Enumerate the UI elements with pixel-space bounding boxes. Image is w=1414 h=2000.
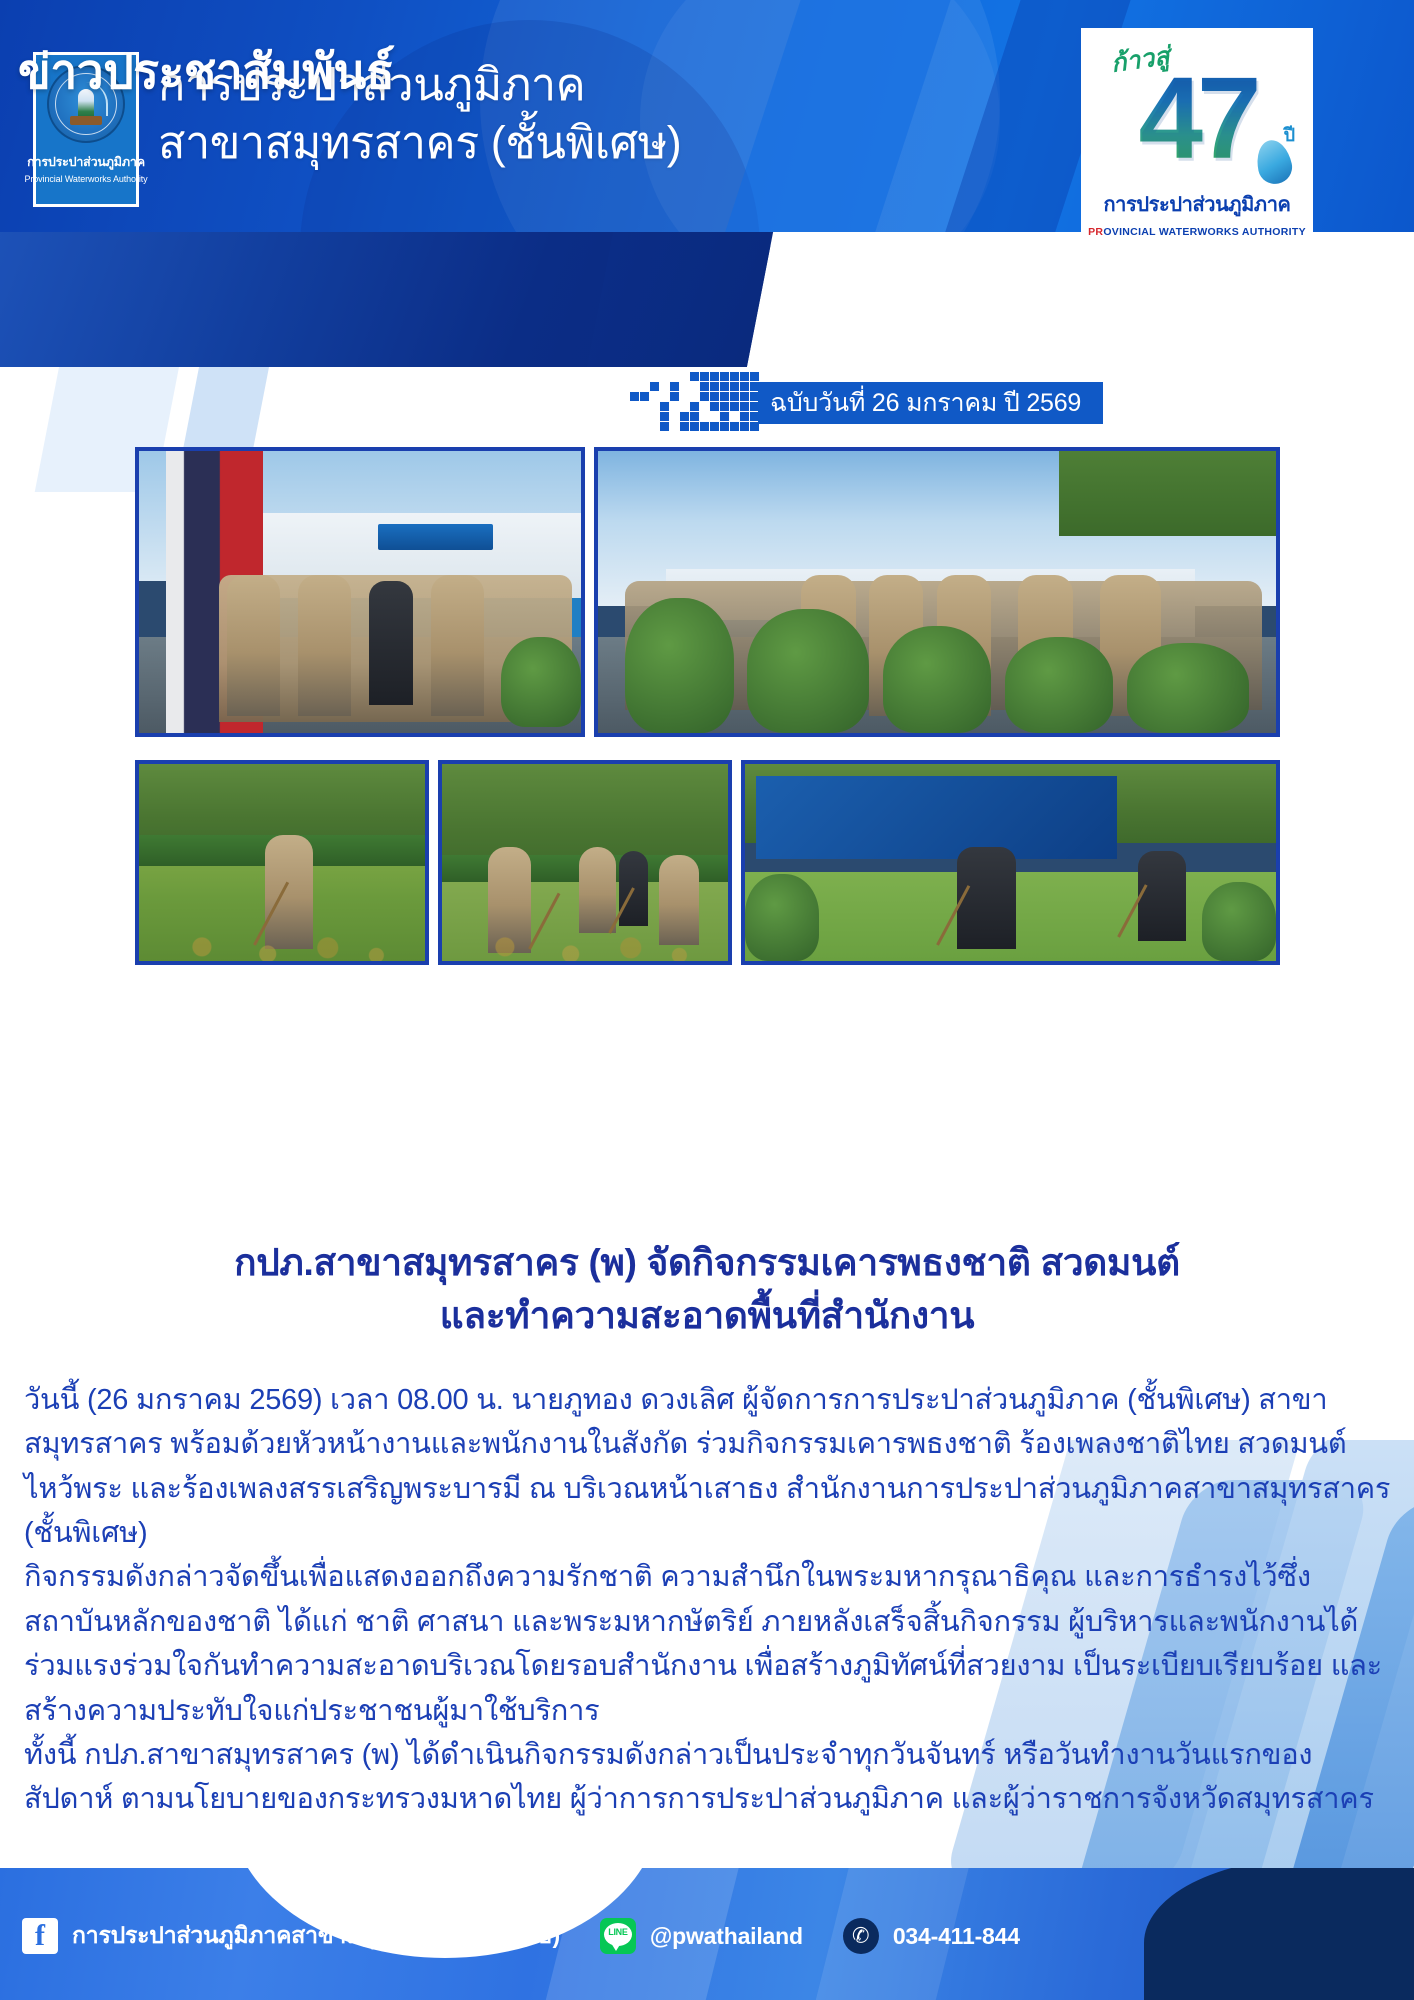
pixel-cell xyxy=(750,372,759,381)
pixel-cell xyxy=(710,372,719,381)
pixel-cell xyxy=(720,372,729,381)
photo-staff-praying-outside[interactable] xyxy=(594,447,1280,737)
pixel-cell xyxy=(730,372,739,381)
photo-flag-ceremony-front-office[interactable] xyxy=(135,447,585,737)
article-paragraph-2: กิจกรรมดังกล่าวจัดขึ้นเพื่อแสดงออกถึงควา… xyxy=(24,1555,1392,1732)
photo5-person-2 xyxy=(1138,851,1186,942)
pixel-cell xyxy=(660,422,669,431)
pixel-cell xyxy=(730,402,739,411)
pixel-cell xyxy=(670,392,679,401)
pixel-cell xyxy=(740,382,749,391)
footer-decor-dark xyxy=(1144,1868,1414,2000)
pixel-cell xyxy=(660,412,669,421)
pixel-cell xyxy=(720,382,729,391)
photo-staff-sweeping-leaves[interactable] xyxy=(438,760,732,965)
pixel-cell xyxy=(720,412,729,421)
photo2-bush-2 xyxy=(747,609,869,733)
pixel-cell xyxy=(680,422,689,431)
date-text: ฉบับวันที่ 26 มกราคม ปี 2569 xyxy=(770,383,1081,423)
footer-bar: การประปาส่วนภูมิภาคสาขาสมุทรสาคร (ชั้นพิ… xyxy=(0,1868,1414,2000)
photo5-bush-2 xyxy=(1202,882,1276,961)
pixel-cell xyxy=(700,392,709,401)
pixel-cell xyxy=(650,382,659,391)
pixel-cell xyxy=(740,422,749,431)
line-bubble-tail xyxy=(611,1943,621,1951)
anniversary-logo-card: ก้าวสู่ 47 ปี การประปาส่วนภูมิภาค PROVIN… xyxy=(1081,28,1313,250)
pixel-decor-grid xyxy=(630,372,762,434)
photo-sweeping-near-striver-banner[interactable] xyxy=(741,760,1280,965)
pixel-cell xyxy=(720,392,729,401)
photo1-person-4 xyxy=(431,575,484,716)
photo2-bush-4 xyxy=(1005,637,1113,733)
pixel-cell xyxy=(700,372,709,381)
photo3-fallen-leaves xyxy=(139,914,425,961)
phone-icon[interactable] xyxy=(843,1918,879,1954)
date-chip: ฉบับวันที่ 26 มกราคม ปี 2569 xyxy=(758,382,1103,424)
pixel-cell xyxy=(750,392,759,401)
pixel-cell xyxy=(750,402,759,411)
pixel-cell xyxy=(690,412,699,421)
pixel-cell xyxy=(690,372,699,381)
footer-contact-row: การประปาส่วนภูมิภาคสาขาสมุทรสาคร (ชั้นพิ… xyxy=(22,1918,1020,1954)
org-title-line2: สาขาสมุทรสาคร (ชั้นพิเศษ) xyxy=(158,114,681,172)
pixel-cell xyxy=(710,402,719,411)
photo5-bush-1 xyxy=(745,874,819,961)
seal-base xyxy=(70,116,102,125)
article-paragraph-3: ทั้งนี้ กปภ.สาขาสมุทรสาคร (พ) ได้ดำเนินก… xyxy=(24,1733,1392,1822)
headline-line1: กปภ.สาขาสมุทรสาคร (พ) จัดกิจกรรมเคารพธงช… xyxy=(60,1237,1354,1290)
pixel-cell xyxy=(720,402,729,411)
pixel-cell xyxy=(680,412,689,421)
headline: กปภ.สาขาสมุทรสาคร (พ) จัดกิจกรรมเคารพธงช… xyxy=(60,1237,1354,1342)
ribbon-label: ข่าวประชาสัมพันธ์ xyxy=(18,34,394,110)
anniversary-thai-name: การประปาส่วนภูมิภาค xyxy=(1081,188,1313,220)
pixel-cell xyxy=(750,422,759,431)
line-badge-text: LINE xyxy=(600,1927,636,1937)
pixel-cell xyxy=(710,392,719,401)
pixel-cell xyxy=(740,402,749,411)
pixel-cell xyxy=(660,402,669,411)
pixel-cell xyxy=(750,382,759,391)
line-label[interactable]: @pwathailand xyxy=(650,1923,803,1950)
news-ribbon xyxy=(0,232,1414,367)
facebook-icon[interactable] xyxy=(22,1918,58,1954)
photo1-person-3 xyxy=(369,581,413,705)
line-icon[interactable]: LINE xyxy=(600,1918,636,1954)
photo1-bush xyxy=(501,637,581,727)
anniversary-year-unit: ปี xyxy=(1284,120,1295,149)
pixel-cell xyxy=(720,422,729,431)
pixel-cell xyxy=(740,412,749,421)
photo2-bush-5 xyxy=(1127,643,1249,733)
phone-label[interactable]: 034-411-844 xyxy=(893,1923,1020,1950)
logo-english-name: Provincial Waterworks Authority xyxy=(24,174,147,184)
headline-line2: และทำความสะอาดพื้นที่สำนักงาน xyxy=(60,1290,1354,1343)
ribbon-tail-shape xyxy=(587,232,773,367)
logo-thai-name: การประปาส่วนภูมิภาค xyxy=(27,152,145,172)
photo2-bush-3 xyxy=(883,626,991,733)
article-paragraph-1: วันนี้ (26 มกราคม 2569) เวลา 08.00 น. นา… xyxy=(24,1378,1392,1555)
photo4-fallen-leaves xyxy=(442,914,728,961)
photo1-office-sign xyxy=(378,524,493,549)
pixel-cell xyxy=(640,392,649,401)
news-poster: การประปาส่วนภูมิภาค Provincial Waterwork… xyxy=(0,0,1414,2000)
pixel-cell xyxy=(730,422,739,431)
pixel-cell xyxy=(750,412,759,421)
pixel-cell xyxy=(630,392,639,401)
article-body: วันนี้ (26 มกราคม 2569) เวลา 08.00 น. นา… xyxy=(24,1378,1392,1822)
pixel-cell xyxy=(710,422,719,431)
pixel-cell xyxy=(730,392,739,401)
pixel-cell xyxy=(730,382,739,391)
pixel-cell xyxy=(670,382,679,391)
photo5-person-1 xyxy=(957,847,1015,949)
photo2-tree-canopy xyxy=(1059,451,1276,536)
pixel-cell xyxy=(700,422,709,431)
pixel-cell xyxy=(710,382,719,391)
photo-manager-sweeping-lawn[interactable] xyxy=(135,760,429,965)
pixel-cell xyxy=(700,382,709,391)
photo1-person-1 xyxy=(227,575,280,716)
photo1-person-2 xyxy=(298,575,351,716)
photo5-striver-banner xyxy=(756,776,1117,859)
pixel-cell xyxy=(690,422,699,431)
facebook-label[interactable]: การประปาส่วนภูมิภาคสาขาสมุทรสาคร (ชั้นพิ… xyxy=(72,1918,560,1954)
pixel-cell xyxy=(740,392,749,401)
photo2-bush-1 xyxy=(625,598,733,733)
pixel-cell xyxy=(740,372,749,381)
pixel-cell xyxy=(690,402,699,411)
